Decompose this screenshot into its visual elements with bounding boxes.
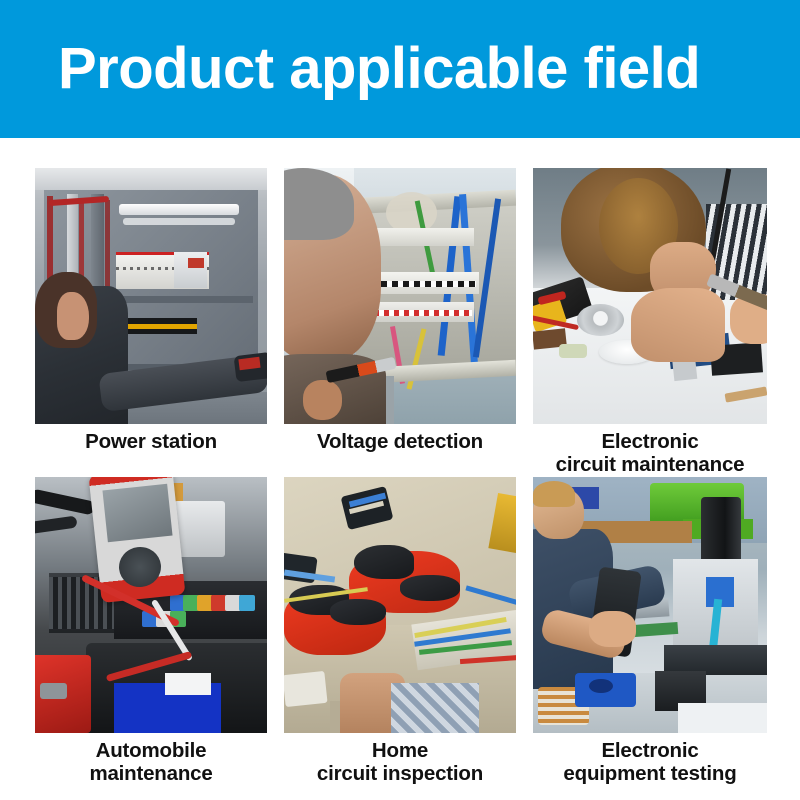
photo-power-station — [35, 168, 267, 424]
page-title: Product applicable field — [58, 40, 700, 98]
caption-line-1: Power station — [35, 431, 267, 454]
caption-line-1: Voltage detection — [284, 431, 516, 454]
gallery-item-automobile-maintenance[interactable]: Automobile maintenance — [35, 477, 267, 786]
caption-line-1: Automobile — [35, 740, 267, 763]
photo-automobile-maintenance — [35, 477, 267, 733]
caption-line-2: circuit inspection — [284, 763, 516, 786]
gallery-item-home-circuit-inspection[interactable]: Home circuit inspection — [284, 477, 516, 786]
caption-line-1: Home — [284, 740, 516, 763]
photo-voltage-detection — [284, 168, 516, 424]
product-applicable-field-page: Product applicable field Power station — [0, 0, 800, 800]
caption-line-1: Electronic — [533, 740, 767, 763]
caption-line-1: Electronic — [533, 431, 767, 454]
gallery-item-power-station[interactable]: Power station — [35, 168, 267, 477]
gallery-item-electronic-equipment-testing[interactable]: Electronic equipment testing — [533, 477, 767, 786]
gallery-item-voltage-detection[interactable]: Voltage detection — [284, 168, 516, 477]
photo-home-circuit-inspection — [284, 477, 516, 733]
caption-electronic-equipment-testing: Electronic equipment testing — [533, 733, 767, 786]
caption-power-station: Power station — [35, 424, 267, 454]
header-banner: Product applicable field — [0, 0, 800, 138]
caption-home-circuit-inspection: Home circuit inspection — [284, 733, 516, 786]
photo-electronic-equipment-testing — [533, 477, 767, 733]
caption-electronic-circuit-maintenance: Electronic circuit maintenance — [533, 424, 767, 477]
gallery-item-electronic-circuit-maintenance[interactable]: Electronic circuit maintenance — [533, 168, 767, 477]
applicable-field-gallery: Power station Voltage detection — [35, 168, 767, 786]
caption-line-2: circuit maintenance — [533, 454, 767, 477]
caption-voltage-detection: Voltage detection — [284, 424, 516, 454]
caption-line-2: maintenance — [35, 763, 267, 786]
caption-line-2: equipment testing — [533, 763, 767, 786]
photo-electronic-circuit-maintenance — [533, 168, 767, 424]
caption-automobile-maintenance: Automobile maintenance — [35, 733, 267, 786]
